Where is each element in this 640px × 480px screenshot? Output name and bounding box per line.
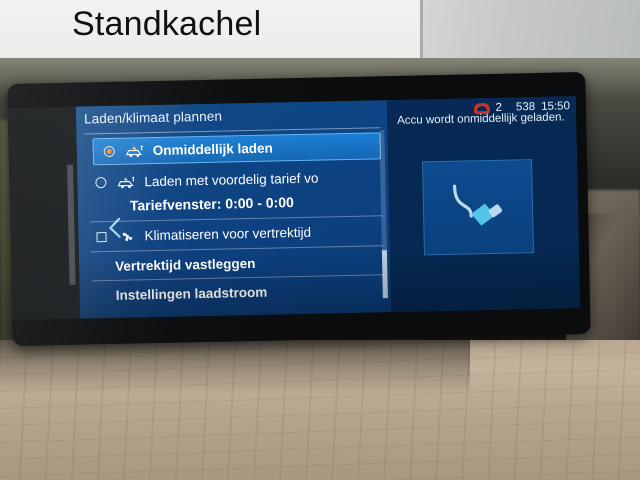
floor-shadow (0, 340, 470, 394)
fan-icon (117, 229, 136, 243)
charging-climate-screen: Laden/klimaat plannen 2 538 15:50 (76, 96, 580, 318)
charging-plug-card (422, 159, 534, 255)
checkbox-klimatiseren[interactable] (96, 232, 106, 242)
menu-item-tariefvenster[interactable]: Tariefvenster: 0:00 - 0:00 (130, 194, 294, 213)
radio-laden-met-voordelig-tarief[interactable] (95, 177, 106, 188)
sign-label: Standkachel (72, 5, 261, 44)
menu-item-label: Instellingen laadstroom (116, 285, 268, 303)
menu-item-label: Vertrektijd vastleggen (115, 256, 256, 274)
menu-item-label: Klimatiseren voor vertrektijd (144, 225, 311, 243)
infotainment-display: Laden/klimaat plannen 2 538 15:50 (7, 72, 590, 346)
tariefvenster-label: Tariefvenster: 0:00 - 0:00 (130, 194, 294, 213)
menu-item-label: Onmiddellijk laden (153, 141, 273, 159)
charging-car-icon (117, 175, 136, 189)
radio-onmiddellijk-laden[interactable] (104, 146, 115, 157)
charging-car-icon (126, 144, 145, 158)
menu-scrollbar-thumb[interactable] (382, 250, 388, 298)
photo-scene: Standkachel Laden/klimaat plannen (0, 0, 640, 480)
menu-item-label: Laden met voordelig tarief vo (144, 171, 318, 190)
charging-plug-icon (444, 175, 511, 239)
display-glass: Laden/klimaat plannen 2 538 15:50 (76, 96, 580, 318)
